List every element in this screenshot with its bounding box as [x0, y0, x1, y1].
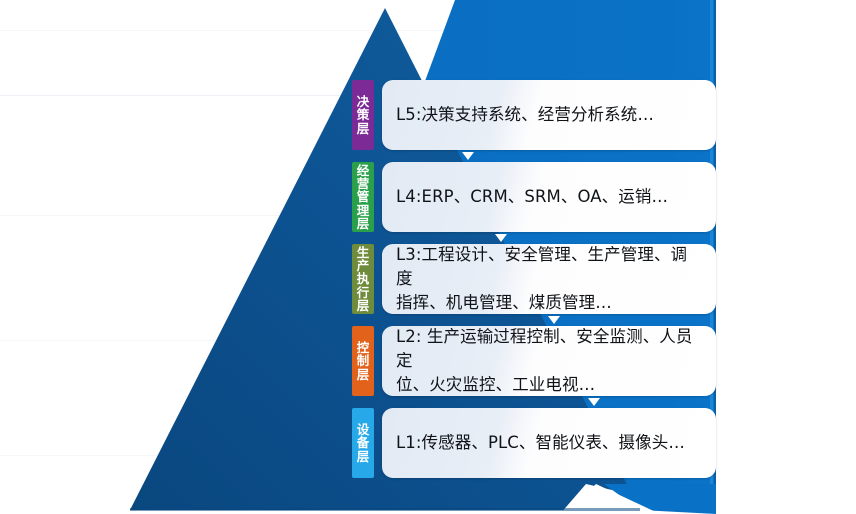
card-line: L4:ERP、CRM、SRM、OA、运销… [396, 185, 668, 209]
layer-card-l5[interactable]: L5:决策支持系统、经营分析系统… [382, 80, 716, 150]
layer-row-l5[interactable]: 决 策 层 L5:决策支持系统、经营分析系统… [352, 80, 716, 150]
tab-char: 层 [357, 217, 370, 230]
card-line: L5:决策支持系统、经营分析系统… [396, 103, 654, 127]
card-line: L2: 生产运输过程控制、安全监测、人员定 [396, 325, 702, 373]
layer-tab-l1[interactable]: 设 备 层 [352, 408, 374, 478]
layer-row-l4[interactable]: 经 营 管 理 层 L4:ERP、CRM、SRM、OA、运销… [352, 162, 716, 232]
layer-card-text-l2: L2: 生产运输过程控制、安全监测、人员定 位、火灾监控、工业电视… [396, 325, 702, 397]
tab-char: 设 [357, 423, 370, 436]
tab-char: 执 [357, 272, 370, 285]
flow-arrow-l2-l1 [588, 398, 600, 406]
slide-canvas: 决 策 层 L5:决策支持系统、经营分析系统… 经 营 管 理 层 L4:ER [0, 0, 856, 514]
layer-card-text-l4: L4:ERP、CRM、SRM、OA、运销… [396, 185, 668, 209]
layer-tab-l2[interactable]: 控 制 层 [352, 326, 374, 396]
tab-char: 备 [357, 436, 370, 449]
layer-card-l2[interactable]: L2: 生产运输过程控制、安全监测、人员定 位、火灾监控、工业电视… [382, 326, 716, 396]
flow-arrow-l4-l3 [495, 234, 507, 242]
tab-char: 理 [357, 204, 370, 217]
layer-tab-l3[interactable]: 生 产 执 行 层 [352, 244, 374, 314]
layer-card-text-l1: L1:传感器、PLC、智能仪表、摄像头… [396, 431, 685, 455]
layer-tab-l5[interactable]: 决 策 层 [352, 80, 374, 150]
tab-char: 层 [357, 299, 370, 312]
tab-char: 管 [357, 190, 370, 203]
card-line: L3:工程设计、安全管理、生产管理、调度 [396, 243, 702, 291]
tab-char: 层 [357, 450, 370, 463]
layer-card-l4[interactable]: L4:ERP、CRM、SRM、OA、运销… [382, 162, 716, 232]
tab-char: 决 [357, 95, 370, 108]
tab-char: 经 [357, 164, 370, 177]
layer-row-l3[interactable]: 生 产 执 行 层 L3:工程设计、安全管理、生产管理、调度 指挥、机电管理、煤… [352, 244, 716, 314]
tab-char: 制 [357, 354, 370, 367]
layer-tab-l4[interactable]: 经 营 管 理 层 [352, 162, 374, 232]
tab-char: 生 [357, 246, 370, 259]
tab-char: 策 [357, 108, 370, 121]
layer-card-l3[interactable]: L3:工程设计、安全管理、生产管理、调度 指挥、机电管理、煤质管理… [382, 244, 716, 314]
card-line: 指挥、机电管理、煤质管理… [396, 291, 702, 315]
layer-row-l1[interactable]: 设 备 层 L1:传感器、PLC、智能仪表、摄像头… [352, 408, 716, 478]
card-line: L1:传感器、PLC、智能仪表、摄像头… [396, 431, 685, 455]
tab-char: 产 [357, 259, 370, 272]
layer-card-text-l5: L5:决策支持系统、经营分析系统… [396, 103, 654, 127]
flow-arrow-l5-l4 [462, 152, 474, 160]
flow-arrow-l3-l2 [548, 316, 560, 324]
tab-char: 层 [357, 122, 370, 135]
card-line: 位、火灾监控、工业电视… [396, 373, 702, 397]
layer-card-text-l3: L3:工程设计、安全管理、生产管理、调度 指挥、机电管理、煤质管理… [396, 243, 702, 315]
layer-row-l2[interactable]: 控 制 层 L2: 生产运输过程控制、安全监测、人员定 位、火灾监控、工业电视… [352, 326, 716, 396]
layer-card-l1[interactable]: L1:传感器、PLC、智能仪表、摄像头… [382, 408, 716, 478]
tab-char: 控 [357, 341, 370, 354]
layer-row-stack: 决 策 层 L5:决策支持系统、经营分析系统… 经 营 管 理 层 L4:ER [0, 0, 856, 514]
tab-char: 营 [357, 177, 370, 190]
tab-char: 行 [357, 286, 370, 299]
tab-char: 层 [357, 368, 370, 381]
